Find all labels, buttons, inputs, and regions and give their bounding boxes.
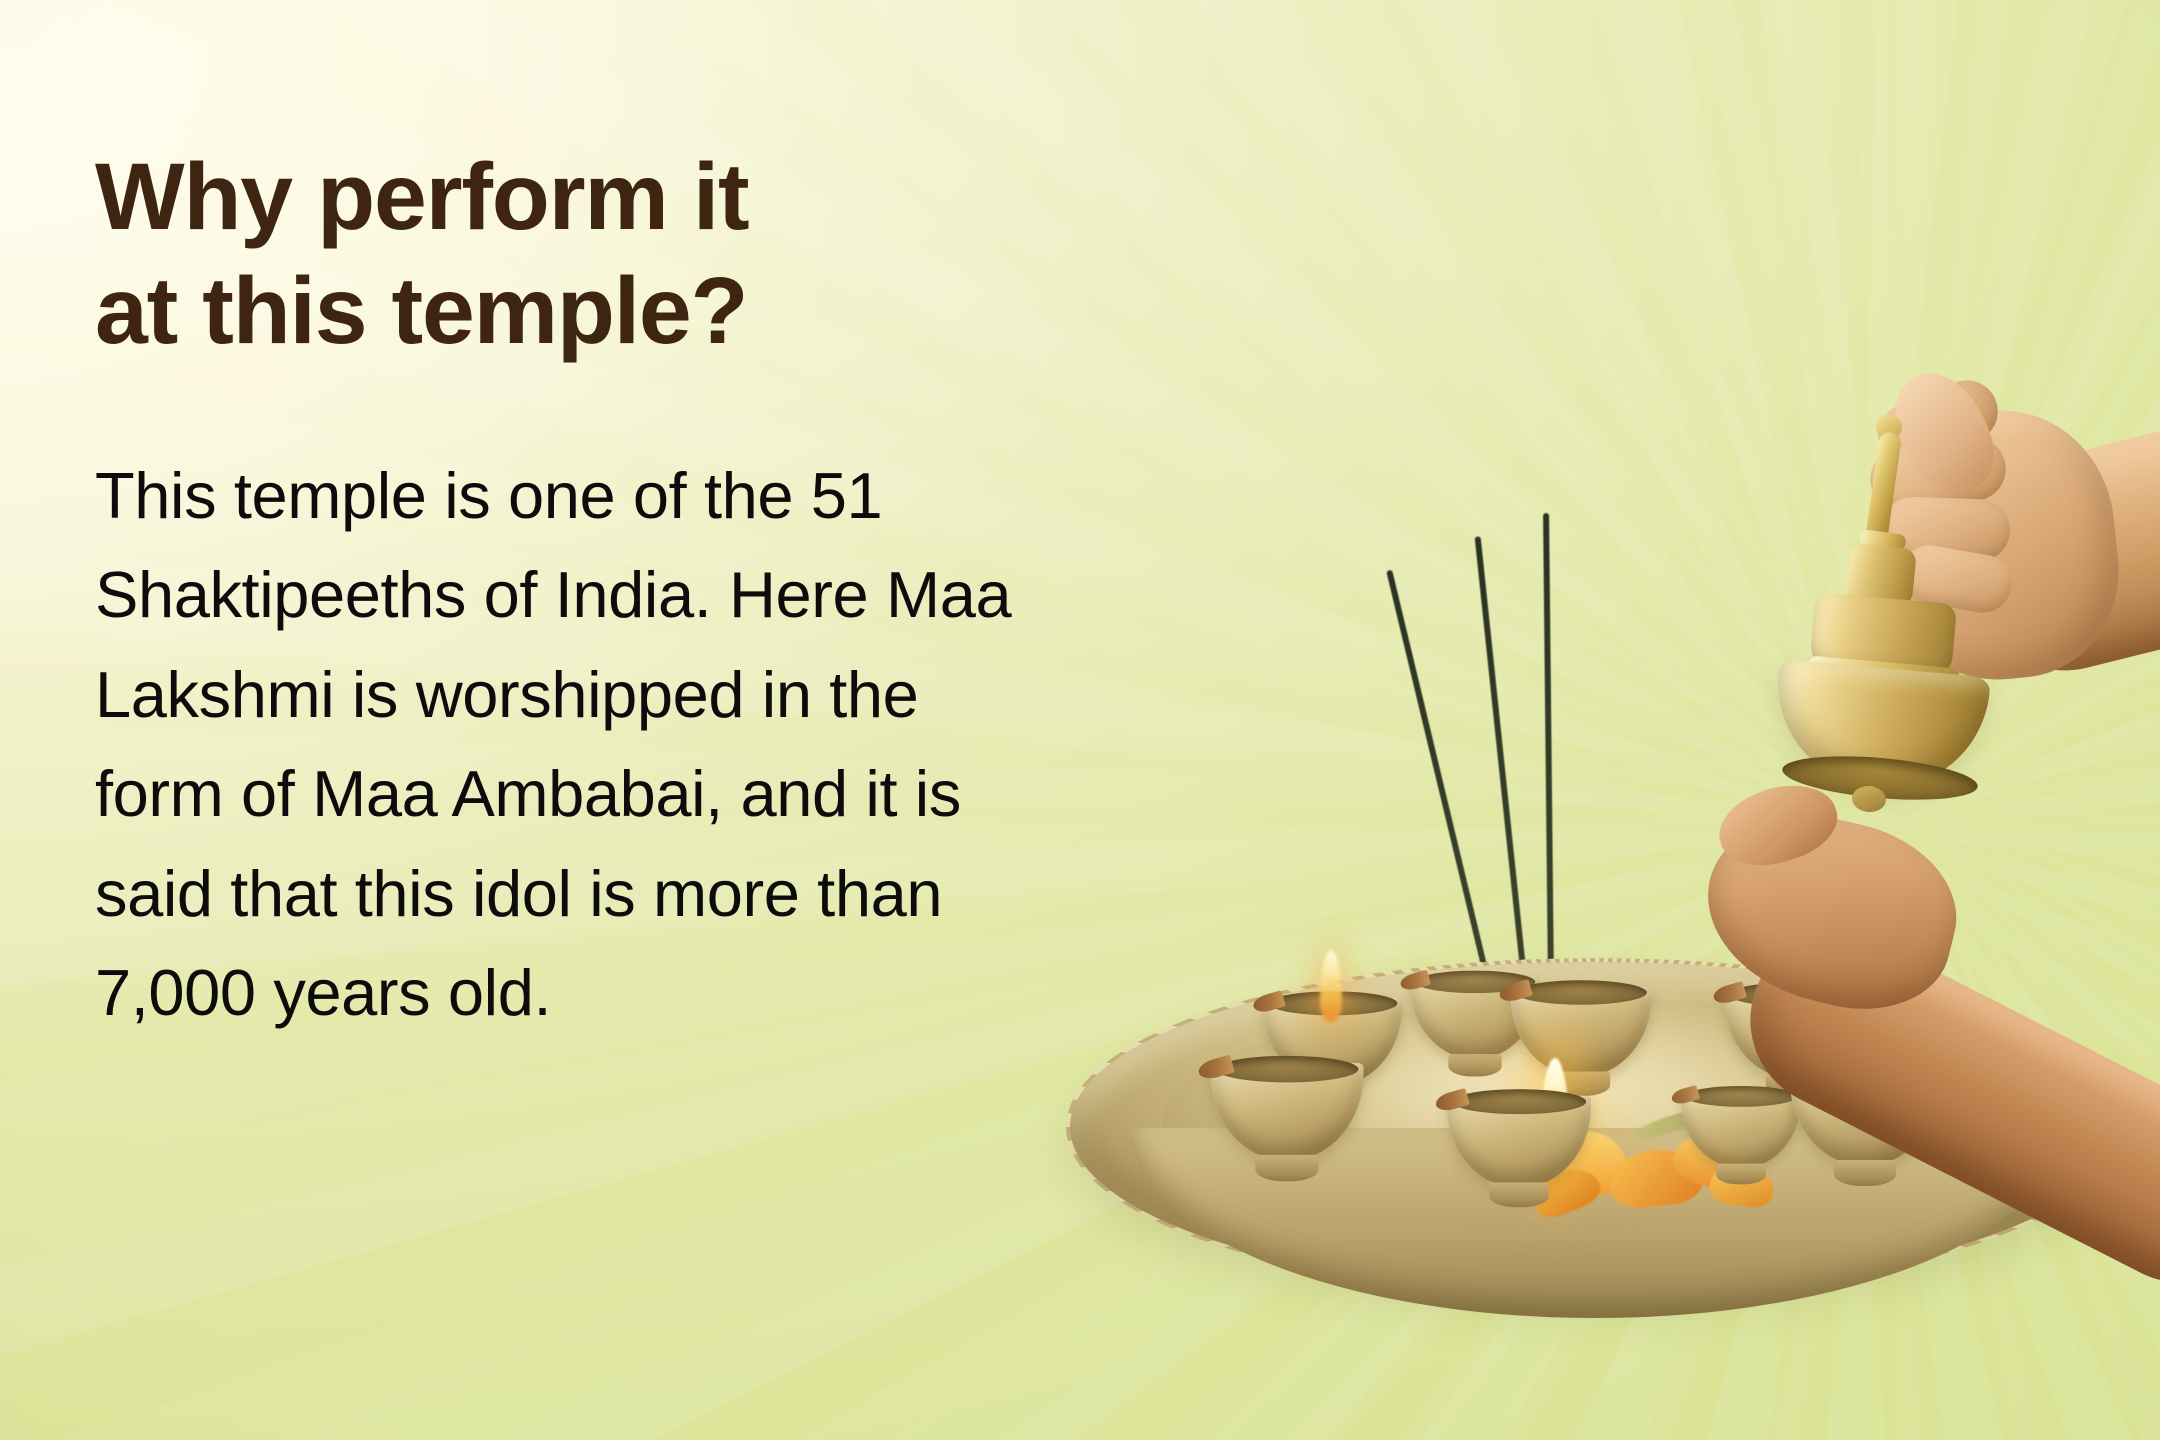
puja-bell-icon: [1760, 400, 1990, 820]
lit-flame-secondary: [1320, 950, 1342, 1022]
body-paragraph: This temple is one of the 51 Shaktipeeth…: [95, 446, 1045, 1043]
text-column: Why perform it at this temple? This temp…: [95, 140, 1085, 1043]
slide-canvas: Why perform it at this temple? This temp…: [0, 0, 2160, 1440]
puja-photograph: [1050, 330, 2160, 1440]
ringing-hand: [1750, 330, 2160, 970]
page-title: Why perform it at this temple?: [95, 140, 1085, 368]
